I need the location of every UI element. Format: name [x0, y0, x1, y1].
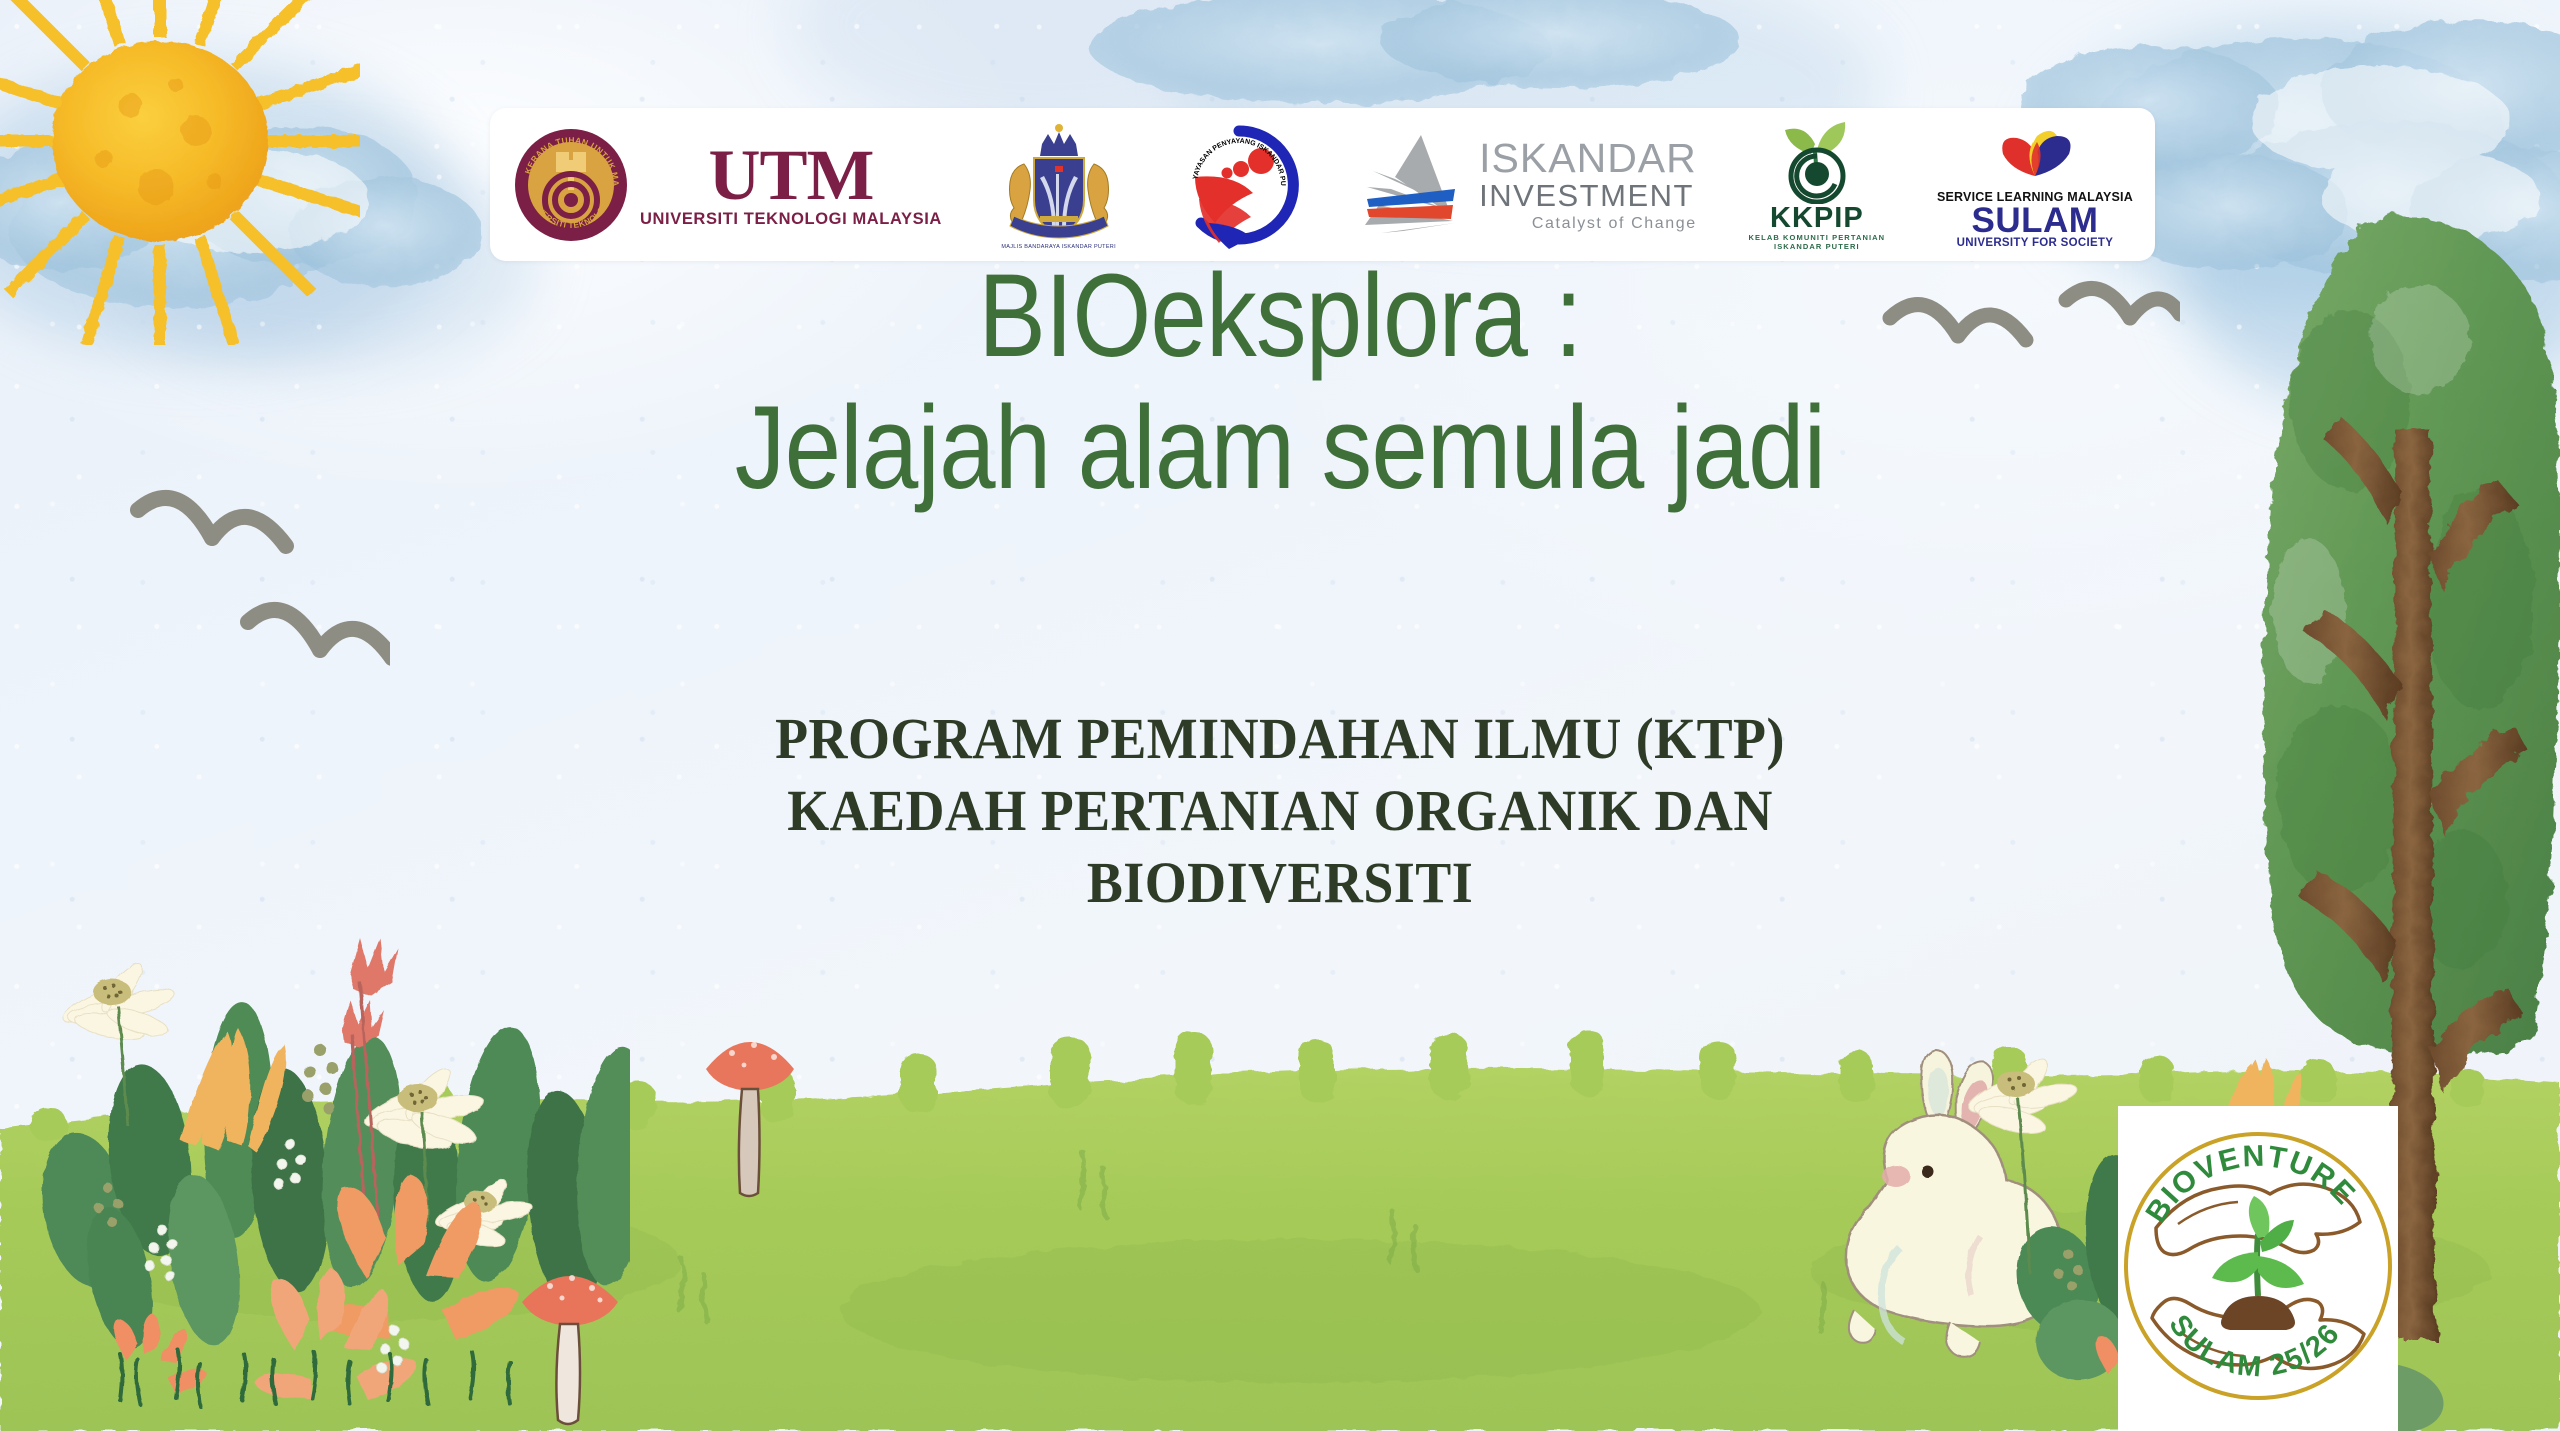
sulam-ribbon-icon [1983, 120, 2087, 190]
majlis-bandaraya-iskandar-puteri-crest: MAJLIS BANDARAYA ISKANDAR PUTERI [994, 120, 1124, 250]
iskandar-tagline: Catalyst of Change [1479, 216, 1697, 232]
kkpip-sprout-icon [1771, 118, 1863, 204]
investment-word: INVESTMENT [1479, 180, 1697, 211]
kkpip-sub2: ISKANDAR PUTERI [1749, 242, 1886, 251]
subtitle-line-3: BIODIVERSITI [90, 847, 2471, 919]
bioventure-badge-icon: BIOVENTURE SULAM 25/26 [2118, 1106, 2398, 1431]
ypip-icon: YAYASAN PENYAYANG ISKANDAR PUTERI [1175, 121, 1303, 249]
sun-icon [0, 0, 360, 345]
iskandar-fan-icon [1355, 129, 1471, 241]
bird-7 [2066, 288, 2130, 318]
partner-logo-strip: KERANA TUHAN UNTUK MANUSIA UNIVERSITI TE… [490, 108, 2155, 261]
iskandar-investment-logo: ISKANDAR INVESTMENT Catalyst of Change [1355, 129, 1697, 241]
kkpip-logo: KKPIP KELAB KOMUNITI PERTANIAN ISKANDAR … [1749, 118, 1886, 252]
bird-group-left [130, 470, 390, 690]
bioventure-sulam-badge: BIOVENTURE SULAM 25/26 BIOVENTURE SULAM … [2118, 1106, 2398, 1431]
kkpip-sub1: KELAB KOMUNITI PERTANIAN [1749, 233, 1886, 242]
mushroom-center [690, 1015, 810, 1215]
sulam-acronym: SULAM [1971, 204, 2098, 237]
bird-8 [2130, 299, 2180, 318]
bird-group-right [1880, 270, 2180, 400]
utm-seal-icon: KERANA TUHAN UNTUK MANUSIA UNIVERSITI TE… [512, 126, 630, 244]
poster-subtitle: PROGRAM PEMINDAHAN ILMU (KTP) KAEDAH PER… [0, 703, 2560, 919]
mbip-crest-icon [994, 120, 1124, 244]
kkpip-acronym: KKPIP [1770, 204, 1864, 233]
subtitle-line-2: KAEDAH PERTANIAN ORGANIK DAN [90, 775, 2471, 847]
poster-canvas: KERANA TUHAN UNTUK MANUSIA UNIVERSITI TE… [0, 0, 2560, 1431]
bird-3 [248, 610, 320, 650]
bird-4 [320, 629, 390, 658]
mbip-caption: MAJLIS BANDARAYA ISKANDAR PUTERI [1001, 244, 1116, 250]
utm-acronym: UTM [708, 142, 873, 208]
sulam-bottom-text: UNIVERSITY FOR SOCIETY [1957, 237, 2114, 249]
subtitle-line-1: PROGRAM PEMINDAHAN ILMU (KTP) [90, 703, 2471, 775]
bird-1 [138, 498, 212, 538]
bird-6 [1958, 315, 2026, 340]
yayasan-penyayang-iskandar-puteri-logo: YAYASAN PENYAYANG ISKANDAR PUTERI YAYASA… [1175, 121, 1303, 249]
utm-logo: KERANA TUHAN UNTUK MANUSIA UNIVERSITI TE… [512, 126, 942, 244]
bird-2 [212, 517, 286, 546]
iskandar-word: ISKANDAR [1479, 138, 1697, 179]
mushroom-left [500, 1250, 640, 1431]
bird-5 [1890, 305, 1958, 336]
utm-full-name: UNIVERSITI TEKNOLOGI MALAYSIA [640, 212, 942, 227]
sulam-logo: SERVICE LEARNING MALAYSIA SULAM UNIVERSI… [1937, 120, 2133, 249]
